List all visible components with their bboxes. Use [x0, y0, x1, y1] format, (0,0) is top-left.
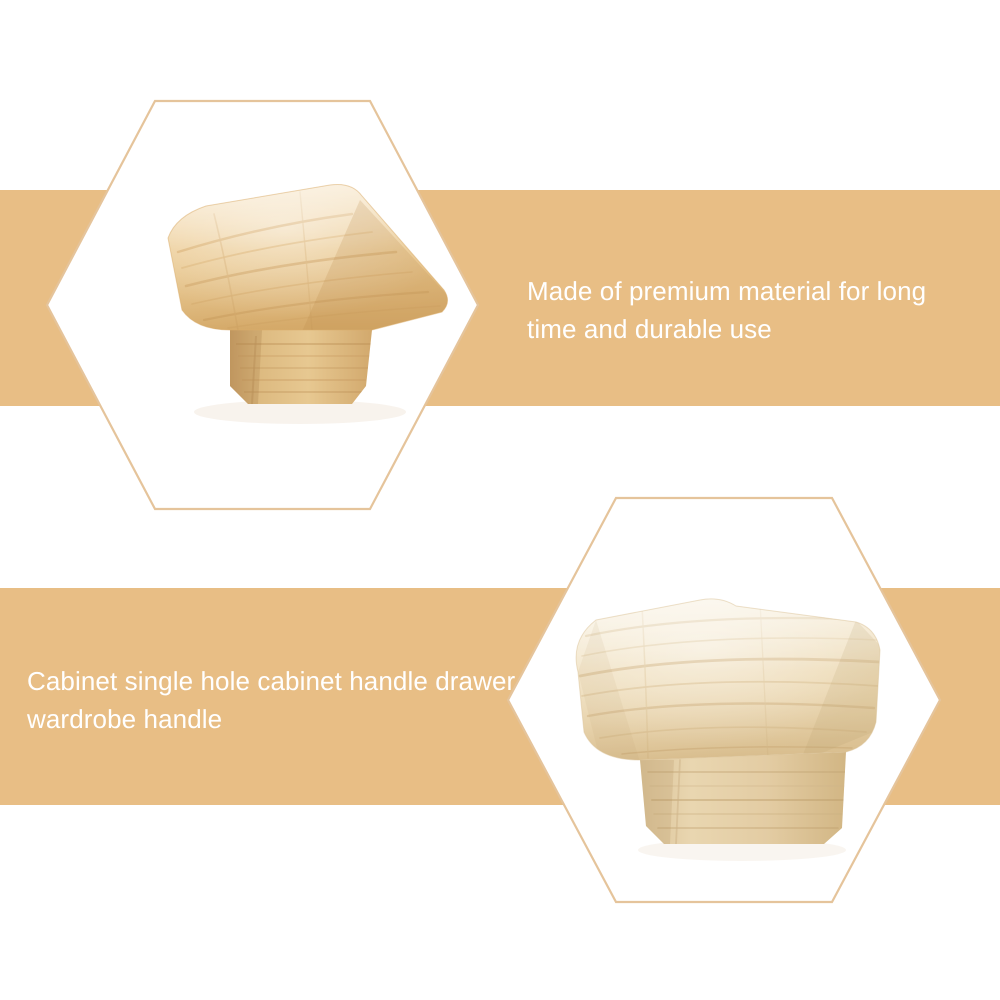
product-feature-banner: Made of premium material for long time a… — [0, 0, 1000, 1000]
feature-caption-1: Made of premium material for long time a… — [527, 272, 927, 348]
feature-caption-2: Cabinet single hole cabinet handle drawe… — [27, 662, 517, 738]
banner-artwork — [0, 0, 1000, 1000]
